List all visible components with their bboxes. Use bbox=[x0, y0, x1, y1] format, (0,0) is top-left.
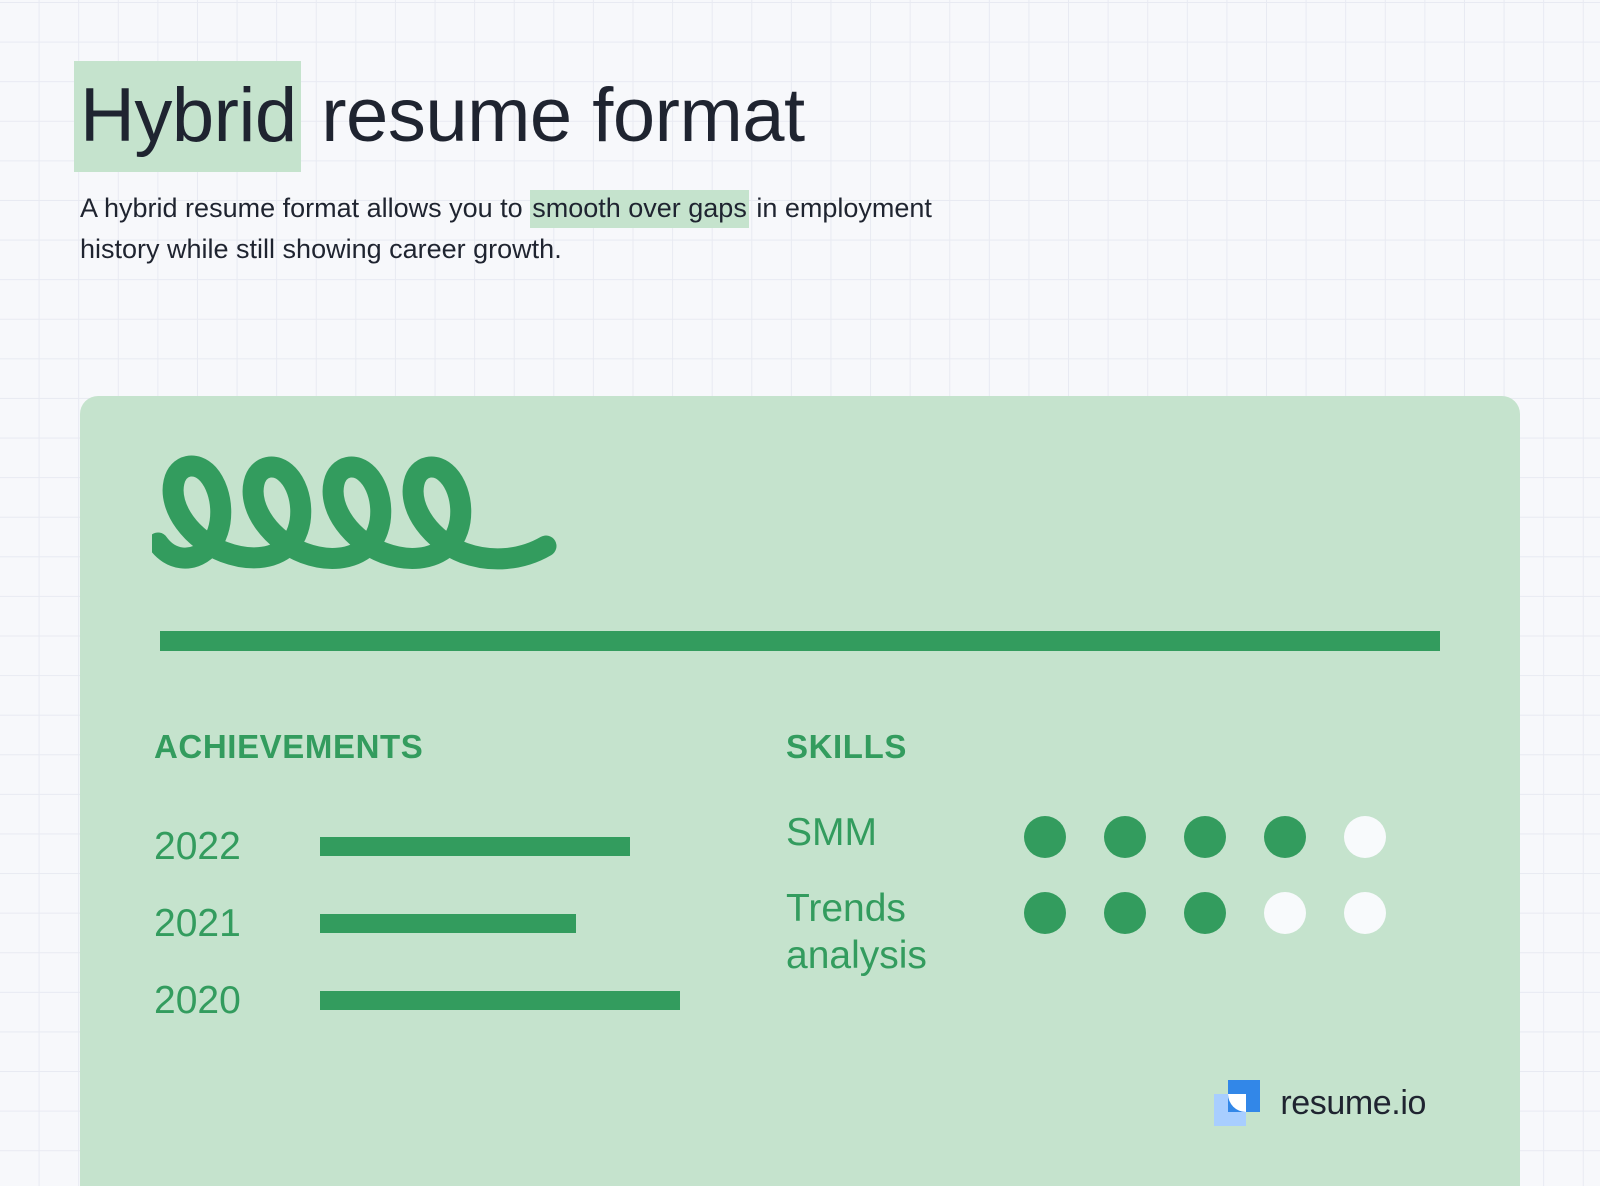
skills-section: SKILLS SMM Trends analysis bbox=[786, 728, 1486, 979]
skill-dot-filled bbox=[1024, 892, 1066, 934]
achievement-year: 2020 bbox=[154, 981, 320, 1020]
achievement-bar bbox=[320, 991, 680, 1010]
achievement-row: 2022 bbox=[154, 808, 794, 885]
achievement-year: 2021 bbox=[154, 904, 320, 943]
skill-dot-filled bbox=[1104, 892, 1146, 934]
skill-dot-empty bbox=[1344, 892, 1386, 934]
skill-label: Trends analysis bbox=[786, 884, 1024, 979]
skill-dot-empty bbox=[1344, 816, 1386, 858]
logo-wordmark: resume.io bbox=[1280, 1086, 1426, 1120]
page-title: Hybrid resume format bbox=[80, 78, 1280, 154]
achievements-section: ACHIEVEMENTS 2022 2021 2020 bbox=[154, 728, 794, 1039]
page-subtitle: A hybrid resume format allows you to smo… bbox=[80, 188, 980, 270]
achievement-row: 2021 bbox=[154, 885, 794, 962]
achievement-row: 2020 bbox=[154, 962, 794, 1039]
skill-dot-filled bbox=[1024, 816, 1066, 858]
skill-dot-filled bbox=[1104, 816, 1146, 858]
subtitle-text-before: A hybrid resume format allows you to bbox=[80, 193, 530, 223]
skill-dot-filled bbox=[1184, 816, 1226, 858]
resume-preview-card: ACHIEVEMENTS 2022 2021 2020 SKILLS SMM bbox=[80, 396, 1520, 1186]
header: Hybrid resume format A hybrid resume for… bbox=[80, 78, 1280, 270]
skill-label: SMM bbox=[786, 808, 1024, 856]
skill-dot-empty bbox=[1264, 892, 1306, 934]
achievement-bar bbox=[320, 914, 576, 933]
skill-rating-dots bbox=[1024, 808, 1386, 858]
skill-dot-filled bbox=[1264, 816, 1306, 858]
skill-row: SMM bbox=[786, 808, 1486, 884]
page-title-highlight: Hybrid bbox=[74, 61, 301, 172]
page-title-rest: resume format bbox=[301, 73, 805, 158]
resume-header-divider bbox=[160, 631, 1440, 651]
skills-list: SMM Trends analysis bbox=[786, 808, 1486, 979]
achievements-list: 2022 2021 2020 bbox=[154, 808, 794, 1039]
skill-row: Trends analysis bbox=[786, 884, 1486, 979]
achievement-year: 2022 bbox=[154, 827, 320, 866]
skill-rating-dots bbox=[1024, 884, 1386, 934]
subtitle-highlight: smooth over gaps bbox=[530, 190, 749, 228]
achievements-heading: ACHIEVEMENTS bbox=[154, 728, 794, 766]
loop-squiggle-icon bbox=[152, 448, 572, 578]
brand-logo: resume.io bbox=[1214, 1080, 1426, 1126]
achievement-bar bbox=[320, 837, 630, 856]
skill-dot-filled bbox=[1184, 892, 1226, 934]
skills-heading: SKILLS bbox=[786, 728, 1486, 766]
resume-io-logo-icon bbox=[1214, 1080, 1260, 1126]
